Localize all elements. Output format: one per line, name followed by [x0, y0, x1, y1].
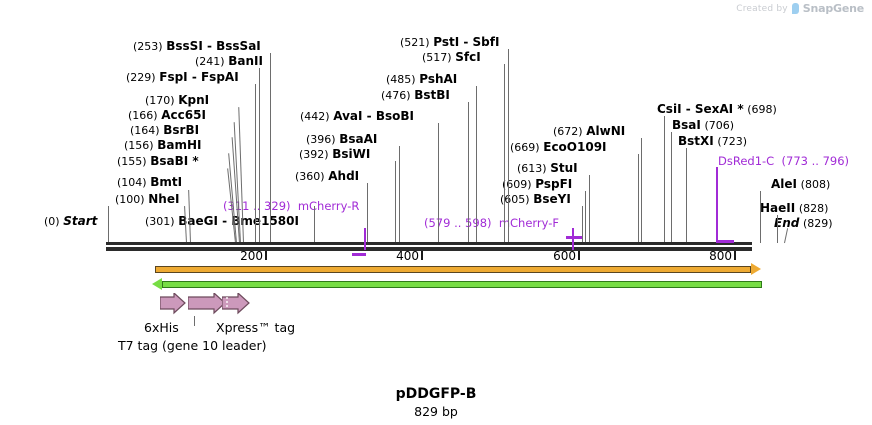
ruler-tick-600: [578, 251, 580, 260]
enzyme-label-kpni[interactable]: (170) KpnI: [145, 94, 209, 107]
orange-track-bar[interactable]: [155, 266, 751, 273]
leader-line-end: [784, 228, 788, 243]
leader-line-bsaai: [399, 146, 400, 243]
feature-label-xpress-tag[interactable]: Xpress™ tag: [216, 320, 295, 335]
ruler-tick-200: [265, 251, 267, 260]
enzyme-label-alwni[interactable]: (672) AlwNI: [553, 125, 625, 138]
primer-bracket-mcherry-r-stem: [364, 228, 366, 250]
enzyme-label-pshai[interactable]: (485) PshAI: [386, 73, 457, 86]
leader-line-avai: [438, 123, 439, 243]
primer-bracket-mcherry-f-foot: [566, 236, 582, 239]
green-track-bar[interactable]: [162, 281, 762, 288]
leader-line-ahdi: [367, 183, 368, 243]
leader-line-bstbi: [468, 102, 469, 243]
leader-line-ecoo109i: [638, 154, 639, 243]
watermark-brand: SnapGene: [803, 2, 864, 15]
leader-line-alei: [760, 191, 761, 243]
leader-line-bseyi: [582, 206, 583, 243]
primer-leader-dsred1-c: [716, 167, 718, 243]
leader-line-banii: [259, 68, 260, 243]
leader-line-bstxi: [686, 148, 687, 243]
feature-label-6xhis[interactable]: 6xHis: [144, 320, 179, 335]
enzyme-label-bstxi[interactable]: BstXI (723): [678, 135, 747, 148]
enzyme-label-bamhi[interactable]: (156) BamHI: [124, 139, 202, 152]
enzyme-label-fspi-fspai[interactable]: (229) FspI - FspAI: [126, 71, 239, 84]
primer-bracket-dsred1-c-foot: [716, 240, 734, 243]
leader-line-pspfi: [585, 191, 586, 243]
leader-line-start: [108, 206, 109, 243]
feature-arrow-xpress-tag[interactable]: [222, 293, 250, 315]
ruler-tick-800: [734, 251, 736, 260]
enzyme-label-end[interactable]: End (829): [774, 217, 833, 230]
enzyme-label-ahdi[interactable]: (360) AhdI: [295, 170, 359, 183]
primer-label-mcherry-r[interactable]: (311 .. 329) mCherry-R: [223, 200, 359, 213]
leader-line-csii: [664, 116, 665, 243]
enzyme-label-bsai[interactable]: BsaI (706): [672, 119, 734, 132]
enzyme-label-alei[interactable]: AleI (808): [771, 178, 830, 191]
feature-arrow-6xhis[interactable]: [160, 293, 186, 315]
leader-line-sfci: [504, 64, 505, 243]
feature-arrow-t7-tag[interactable]: [188, 293, 226, 315]
ruler-tick-400: [421, 251, 423, 260]
enzyme-label-acc65i[interactable]: (166) Acc65I: [128, 109, 206, 122]
enzyme-label-bseyi[interactable]: (605) BseYI: [500, 193, 571, 206]
green-track-arrowhead-left-icon: [152, 278, 162, 290]
feature-label-t7-tag[interactable]: T7 tag (gene 10 leader): [118, 338, 266, 353]
enzyme-label-sfci[interactable]: (517) SfcI: [422, 51, 481, 64]
enzyme-label-banii[interactable]: (241) BanII: [195, 55, 263, 68]
primer-label-dsred1-c[interactable]: DsRed1-C (773 .. 796): [718, 155, 849, 168]
enzyme-label-pspfi[interactable]: (609) PspFI: [502, 178, 572, 191]
enzyme-label-bsssi-bsssai[interactable]: (253) BssSI - BssSaI: [133, 40, 261, 53]
enzyme-label-stui[interactable]: (613) StuI: [517, 162, 578, 175]
feature-leader-t7-tag: [194, 316, 195, 326]
plasmid-size: 829 bp: [0, 404, 872, 419]
enzyme-label-bstbi[interactable]: (476) BstBI: [381, 89, 450, 102]
orange-track-arrowhead-right-icon: [751, 263, 761, 275]
enzyme-label-bsrbi[interactable]: (164) BsrBI: [130, 124, 199, 137]
enzyme-label-avai-bsobi[interactable]: (442) AvaI - BsoBI: [300, 110, 414, 123]
enzyme-label-ecoo109i[interactable]: (669) EcoO109I: [510, 141, 607, 154]
primer-bracket-mcherry-r-foot: [352, 253, 366, 256]
enzyme-label-bmti[interactable]: (104) BmtI: [117, 176, 182, 189]
leader-line-pshai: [476, 86, 477, 243]
enzyme-label-nhei[interactable]: (100) NheI: [115, 193, 179, 206]
snapgene-watermark: Created by SnapGene: [736, 2, 864, 15]
ruler-label-600: 600: [553, 249, 576, 263]
enzyme-label-psti-sbfi[interactable]: (521) PstI - SbfI: [400, 36, 499, 49]
ruler-label-400: 400: [396, 249, 419, 263]
watermark-prefix: Created by: [736, 4, 788, 14]
enzyme-label-csii-sexai[interactable]: CsiI - SexAI * (698): [657, 103, 777, 116]
enzyme-label-baegi-bme1580i[interactable]: (301) BaeGI - Bme1580I: [145, 215, 299, 228]
enzyme-label-bsiwi[interactable]: (392) BsiWI: [299, 148, 370, 161]
snapgene-logo-icon: [792, 3, 799, 14]
plasmid-map-canvas: Created by SnapGene (0) Start (100) NheI…: [0, 0, 872, 425]
leader-line-baegi: [314, 206, 315, 243]
primer-bracket-mcherry-f-stem: [572, 228, 574, 250]
leader-line-stui: [589, 175, 590, 243]
plasmid-backbone-gap: [106, 245, 752, 247]
ruler-label-200: 200: [240, 249, 263, 263]
leader-line-bsssi: [270, 53, 271, 243]
leader-line-haeii: [777, 215, 778, 243]
enzyme-label-bsabi[interactable]: (155) BsaBI *: [117, 155, 199, 168]
leader-line-psti: [508, 49, 509, 243]
primer-label-mcherry-f[interactable]: (579 .. 598) mCherry-F: [424, 217, 559, 230]
enzyme-label-haeii[interactable]: HaeII (828): [760, 202, 828, 215]
plasmid-name: pDDGFP-B: [0, 386, 872, 402]
leader-line-bsai: [671, 132, 672, 243]
enzyme-label-bsaai[interactable]: (396) BsaAI: [306, 133, 377, 146]
leader-line-bsiwi: [395, 161, 396, 243]
enzyme-label-start[interactable]: (0) Start: [44, 215, 97, 228]
leader-line-alwni: [641, 138, 642, 243]
ruler-label-800: 800: [709, 249, 732, 263]
leader-line-fspi: [255, 84, 256, 243]
